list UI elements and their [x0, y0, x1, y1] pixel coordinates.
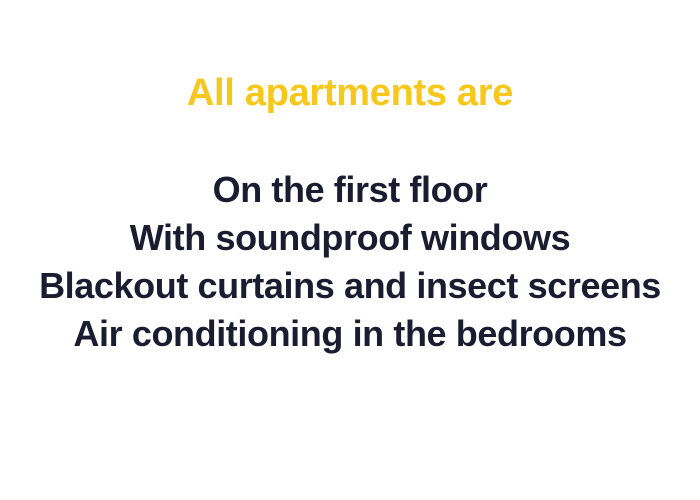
list-item: Blackout curtains and insect screens — [0, 262, 700, 310]
list-item: Air conditioning in the bedrooms — [0, 310, 700, 358]
slide-canvas: All apartments are On the first floor Wi… — [0, 0, 700, 500]
list-item: On the first floor — [0, 166, 700, 214]
list-item: With soundproof windows — [0, 214, 700, 262]
feature-list: On the first floor With soundproof windo… — [0, 166, 700, 358]
page-title: All apartments are — [0, 70, 700, 116]
